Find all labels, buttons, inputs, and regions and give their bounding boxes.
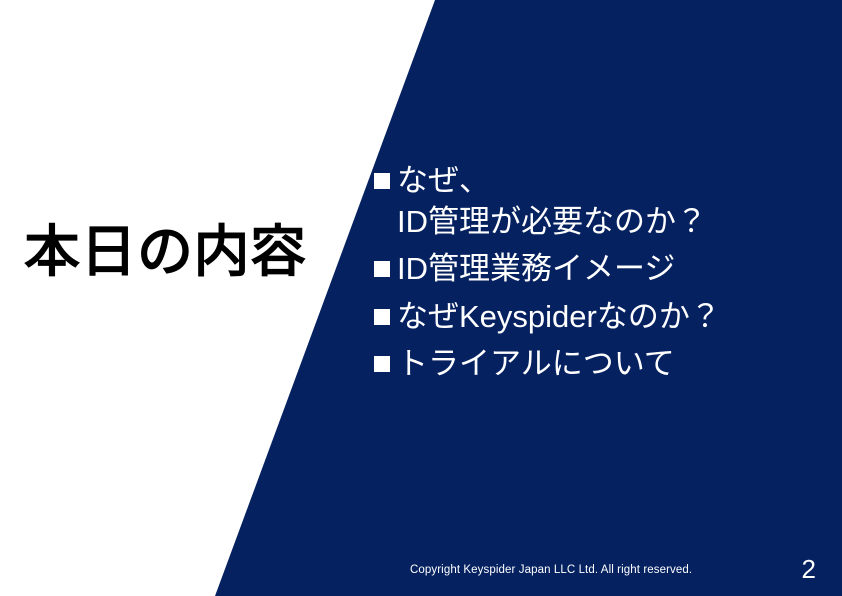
copyright-notice: Copyright Keyspider Japan LLC Ltd. All r… [410,564,692,576]
square-bullet-icon [374,261,390,277]
slide-page-number: 2 [802,556,816,582]
square-bullet-icon [374,356,390,372]
agenda-item-label: なぜ、 ID管理が必要なのか？ [397,160,707,242]
square-bullet-icon [374,173,390,189]
page-title: 本日の内容 [24,222,344,282]
list-item: ID管理業務イメージ [374,248,814,289]
list-item: なぜKeyspiderなのか？ [374,296,814,337]
agenda-item-label: ID管理業務イメージ [397,248,675,289]
agenda-list: なぜ、 ID管理が必要なのか？ ID管理業務イメージ なぜKeyspiderなの… [374,160,814,390]
square-bullet-icon [374,309,390,325]
presentation-slide: 本日の内容 なぜ、 ID管理が必要なのか？ ID管理業務イメージ なぜKeysp… [0,0,842,596]
list-item: なぜ、 ID管理が必要なのか？ [374,160,814,242]
agenda-item-label: トライアルについて [397,343,675,384]
list-item: トライアルについて [374,343,814,384]
agenda-item-label: なぜKeyspiderなのか？ [397,296,721,337]
